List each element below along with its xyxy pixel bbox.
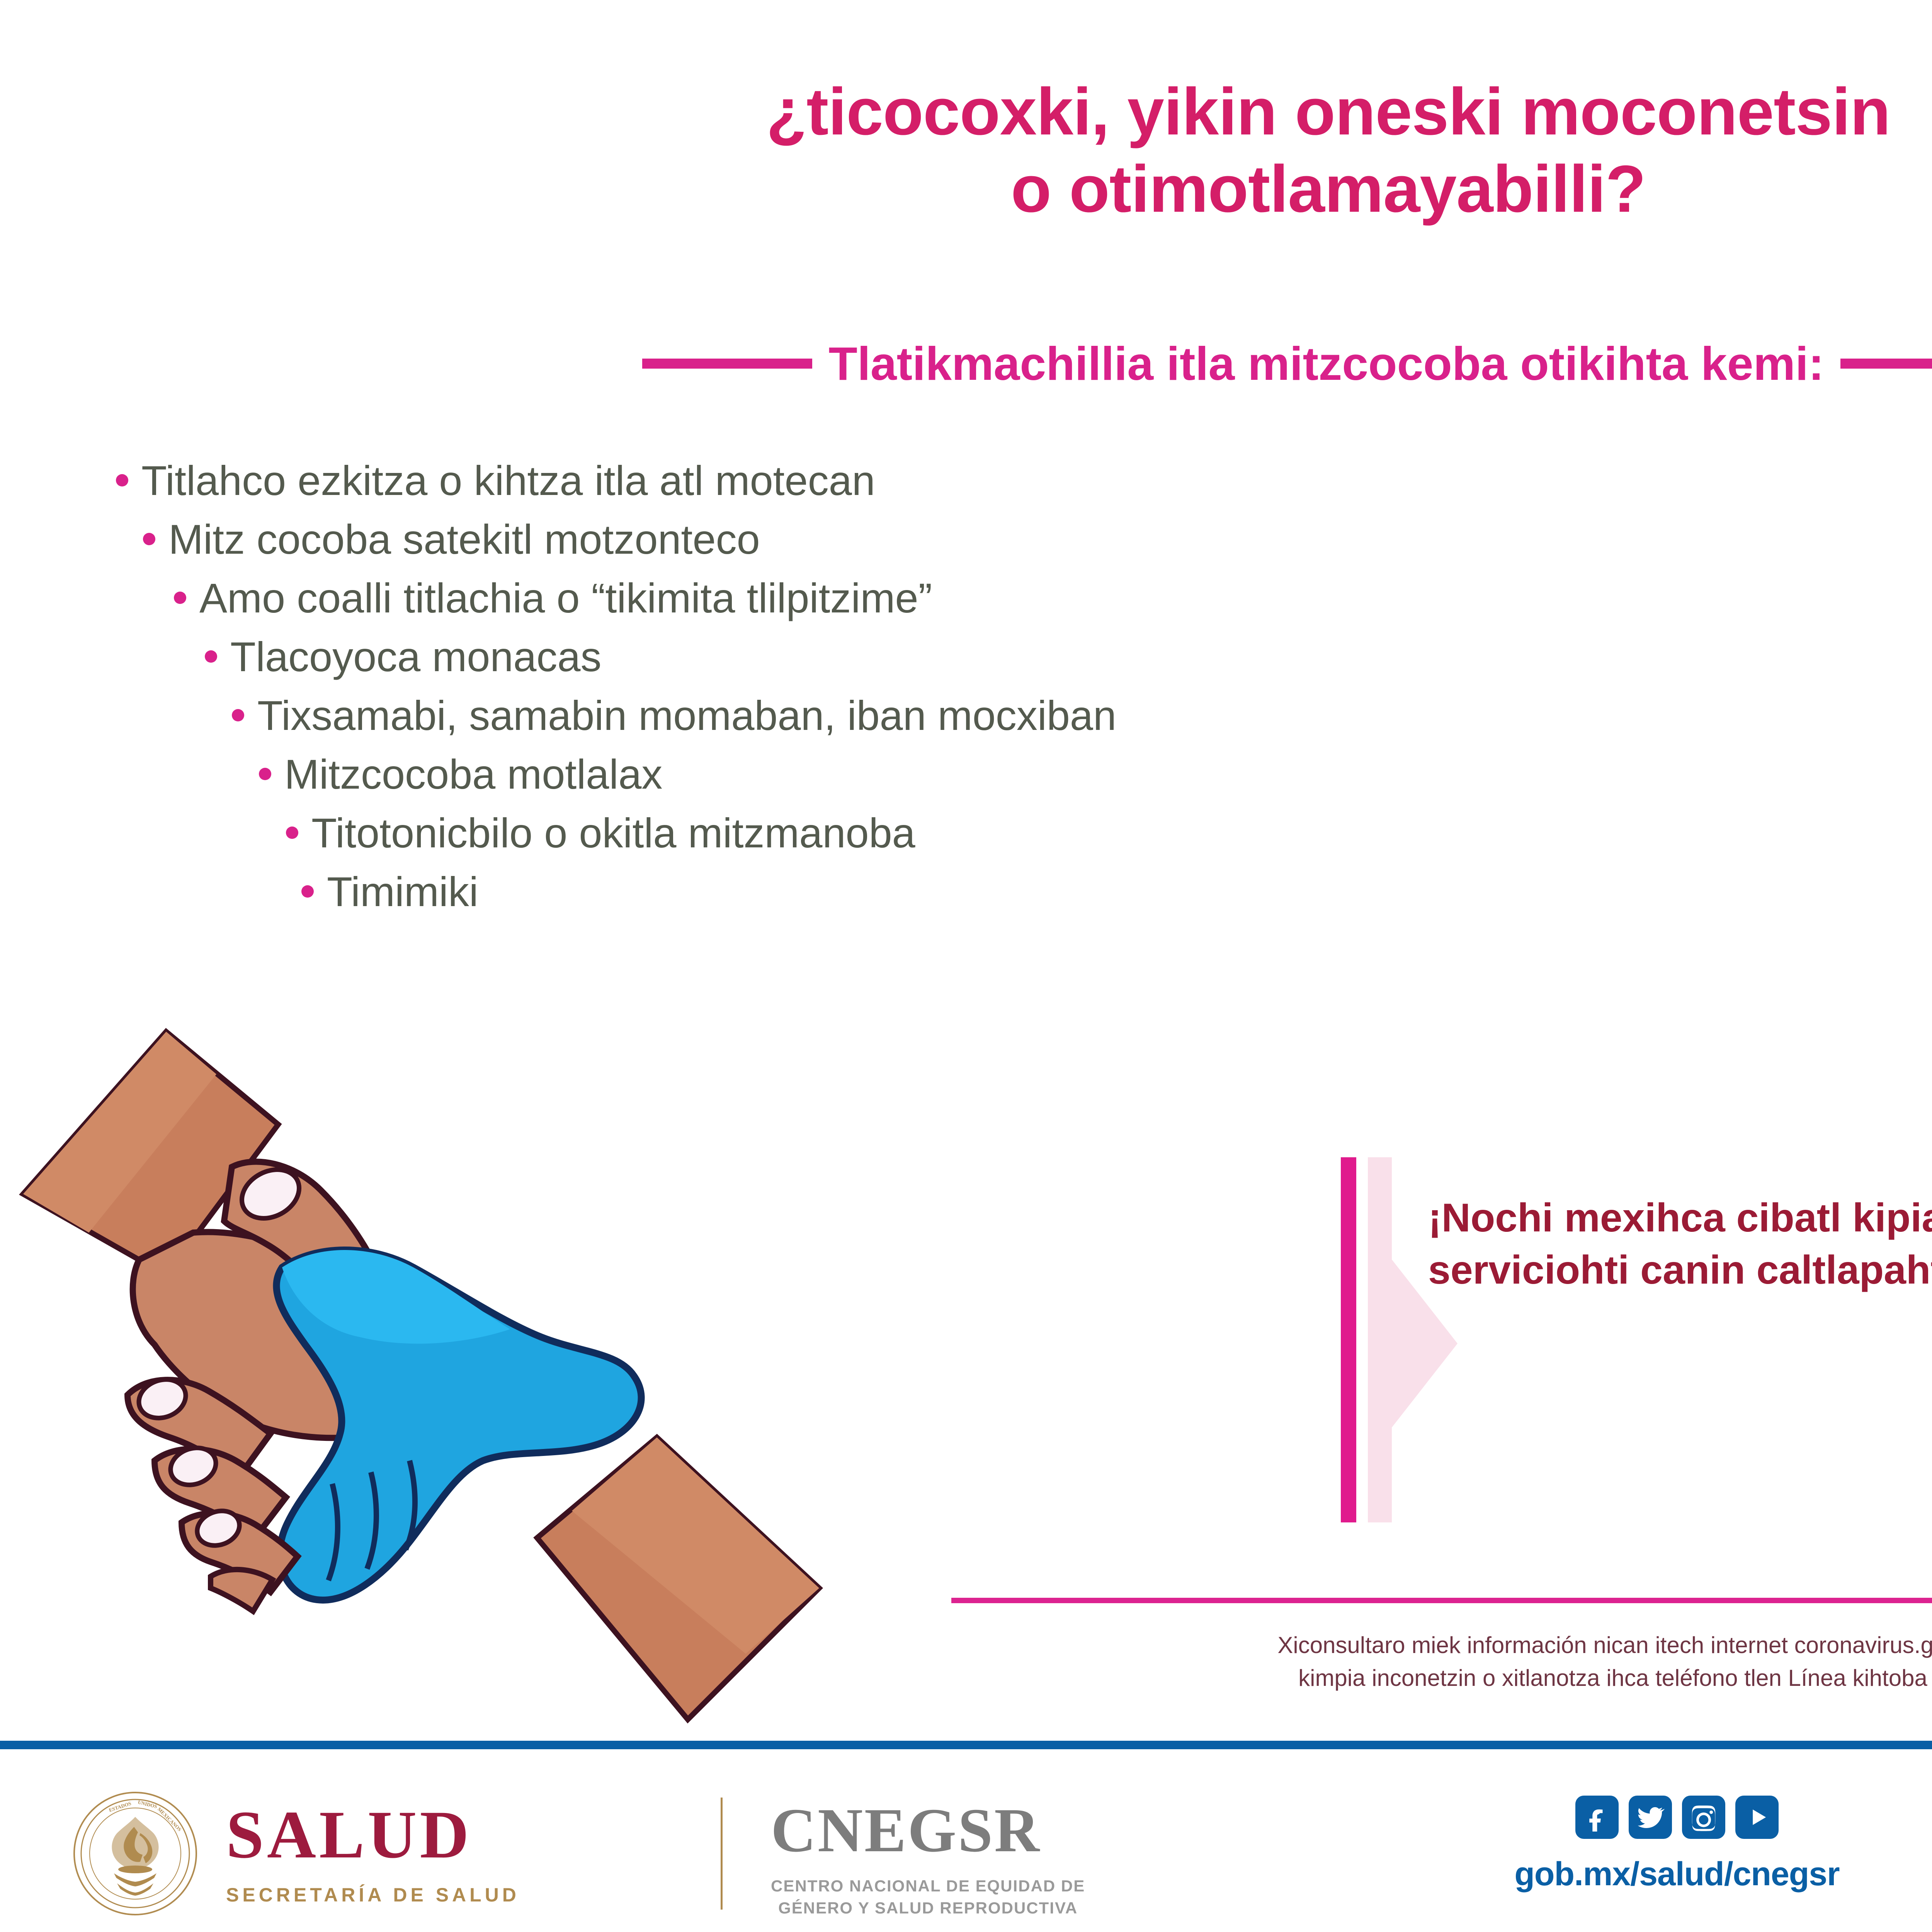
- bullet-dot-icon: [174, 592, 186, 604]
- symptom-text: Titlahco ezkitza o kihtza itla atl motec…: [141, 460, 875, 502]
- social-icons: [1445, 1796, 1909, 1839]
- cnegsr-logo: CNEGSR CENTRO NACIONAL DE EQUIDAD DE GÉN…: [771, 1799, 1085, 1919]
- subtitle-row: Tlatikmachillia itla mitzcocoba otikihta…: [0, 340, 1932, 387]
- salud-text: SALUD: [226, 1801, 520, 1869]
- youtube-icon[interactable]: [1735, 1796, 1779, 1839]
- title-line-1: ¿ticocoxki, yikin oneski moconetsin: [0, 73, 1932, 151]
- mexican-eagle-seal-icon: ESTADOS UNIDOS MEXICANOS: [71, 1790, 199, 1917]
- bullet-dot-icon: [259, 768, 271, 780]
- handshake-illustration: [0, 1028, 927, 1747]
- symptom-text: Timimiki: [327, 871, 478, 913]
- facebook-icon[interactable]: [1575, 1796, 1619, 1839]
- footer-divider: [0, 1741, 1932, 1749]
- salud-logo: ESTADOS UNIDOS MEXICANOS SALUD SECRETARÍ…: [71, 1790, 520, 1917]
- footer-note-line-1: Xiconsultaro miek información nican itec…: [951, 1629, 1932, 1662]
- bullet-dot-icon: [232, 709, 244, 721]
- symptom-text: Mitzcocoba motlalax: [284, 753, 662, 795]
- subtitle-rule-left: [642, 359, 812, 369]
- symptoms-list: Titlahco ezkitza o kihtza itla atl motec…: [116, 460, 1932, 930]
- symptom-text: Amo coalli titlachia o “tikimita tlilpit…: [199, 577, 932, 619]
- footer-rule: [951, 1598, 1932, 1603]
- list-item: Mitzcocoba motlalax: [259, 753, 1932, 795]
- list-item: Tixsamabi, samabin momaban, iban mocxiba…: [232, 695, 1932, 736]
- page-title: ¿ticocoxki, yikin oneski moconetsin o ot…: [0, 73, 1932, 228]
- bullet-dot-icon: [205, 650, 217, 663]
- title-line-2: o otimotlamayabilli?: [0, 151, 1932, 228]
- logo-divider: [721, 1798, 723, 1910]
- list-item: Titlahco ezkitza o kihtza itla atl motec…: [116, 460, 1932, 502]
- bullet-dot-icon: [116, 474, 128, 486]
- footer-note-line-2: kimpia inconetzin o xitlanotza ihca telé…: [951, 1662, 1932, 1694]
- cnegsr-subtext: CENTRO NACIONAL DE EQUIDAD DE GÉNERO Y S…: [771, 1875, 1085, 1919]
- bullet-dot-icon: [143, 533, 155, 545]
- bullet-dot-icon: [301, 885, 314, 898]
- footer-note: Xiconsultaro miek información nican itec…: [951, 1629, 1932, 1694]
- list-item: Timimiki: [301, 871, 1932, 913]
- list-item: Titotonicbilo o okitla mitzmanoba: [286, 812, 1932, 854]
- poster-root: ¿ticocoxki, yikin oneski moconetsin o ot…: [0, 0, 1932, 1932]
- social-block: gob.mx/salud/cnegsr: [1445, 1796, 1909, 1893]
- symptom-text: Tixsamabi, samabin momaban, iban mocxiba…: [257, 695, 1116, 736]
- callout-accent-bar: [1341, 1157, 1356, 1522]
- cnegsr-subtext-line-1: CENTRO NACIONAL DE EQUIDAD DE: [771, 1875, 1085, 1897]
- salud-wordmark: SALUD SECRETARÍA DE SALUD: [226, 1801, 520, 1906]
- instagram-icon[interactable]: [1682, 1796, 1725, 1839]
- symptom-text: Mitz cocoba satekitl motzonteco: [168, 519, 760, 560]
- cnegsr-subtext-line-2: GÉNERO Y SALUD REPRODUCTIVA: [771, 1897, 1085, 1919]
- list-item: Mitz cocoba satekitl motzonteco: [143, 519, 1932, 560]
- symptom-text: Tlacoyoca monacas: [230, 636, 601, 678]
- callout-text: ¡Nochi mexihca cibatl kipia derecho maki…: [1414, 1157, 1932, 1522]
- bullet-dot-icon: [286, 827, 298, 839]
- subtitle-rule-right: [1840, 359, 1932, 369]
- callout-rights: ¡Nochi mexihca cibatl kipia derecho maki…: [1341, 1157, 1932, 1522]
- svg-text:ESTADOS: ESTADOS: [108, 1800, 132, 1813]
- list-item: Tlacoyoca monacas: [205, 636, 1932, 678]
- website-url[interactable]: gob.mx/salud/cnegsr: [1445, 1855, 1909, 1893]
- callout-pennant-icon: [1368, 1157, 1414, 1522]
- list-item: Amo coalli titlachia o “tikimita tlilpit…: [174, 577, 1932, 619]
- symptom-text: Titotonicbilo o okitla mitzmanoba: [311, 812, 915, 854]
- subtitle: Tlatikmachillia itla mitzcocoba otikihta…: [828, 340, 1824, 387]
- twitter-icon[interactable]: [1629, 1796, 1672, 1839]
- footer-bar: ESTADOS UNIDOS MEXICANOS SALUD SECRETARÍ…: [0, 1749, 1932, 1932]
- cnegsr-text: CNEGSR: [771, 1799, 1085, 1862]
- salud-subtext: SECRETARÍA DE SALUD: [226, 1884, 520, 1906]
